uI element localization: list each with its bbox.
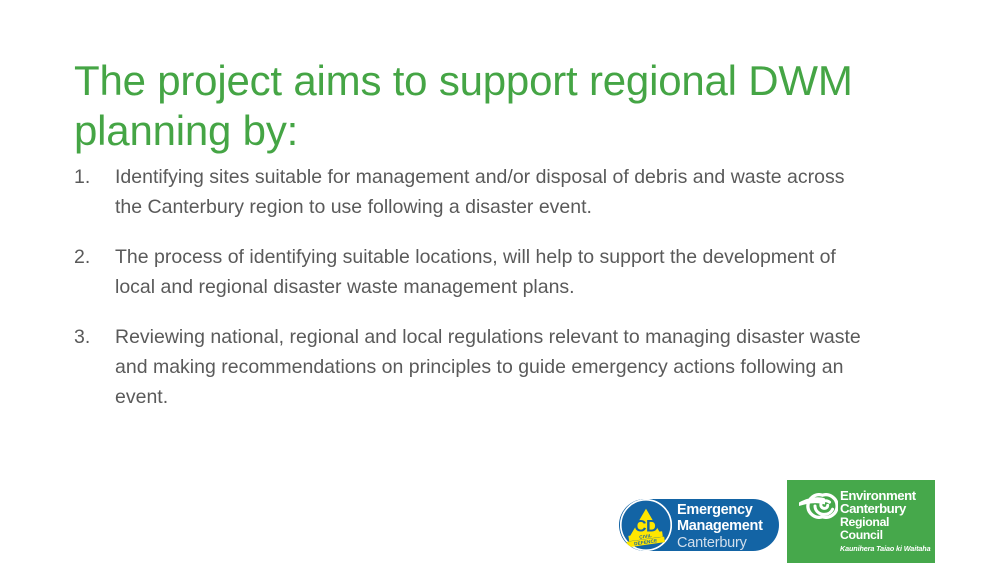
emc-line-canterbury: Canterbury [677,535,777,551]
environment-canterbury-logo: Environment Canterbury Regional Council … [787,480,935,563]
list-item: 2. The process of identifying suitable l… [74,242,874,302]
emc-line-emergency: Emergency [677,503,777,519]
environment-canterbury-wordmark: Environment Canterbury Regional Council … [840,489,932,553]
list-item: 3. Reviewing national, regional and loca… [74,322,874,412]
list-item-number: 1. [74,162,115,192]
list-item-text: Identifying sites suitable for managemen… [115,162,874,222]
numbered-list: 1. Identifying sites suitable for manage… [74,162,874,412]
ecan-line-canterbury: Canterbury [840,502,932,515]
koru-wave-icon [798,493,838,519]
ecan-line-maori: Kaunihera Taiao ki Waitaha [840,544,932,553]
list-item-text: The process of identifying suitable loca… [115,242,874,302]
list-item: 1. Identifying sites suitable for manage… [74,162,874,222]
ecan-line-regional-council: Regional Council [840,516,932,543]
list-item-number: 3. [74,322,115,352]
emergency-management-wordmark: Emergency Management Canterbury [677,503,777,551]
list-item-number: 2. [74,242,115,272]
slide-canvas: The project aims to support regional DWM… [0,0,1003,565]
list-item-text: Reviewing national, regional and local r… [115,322,874,412]
page-title: The project aims to support regional DWM… [74,56,904,156]
ecan-line-environment: Environment [840,489,932,502]
civil-defence-badge-icon: CD CIVIL DEFENCE [620,499,672,551]
emc-line-management: Management [677,519,777,535]
emergency-management-canterbury-logo: CD CIVIL DEFENCE Emergency Management Ca… [619,499,779,551]
